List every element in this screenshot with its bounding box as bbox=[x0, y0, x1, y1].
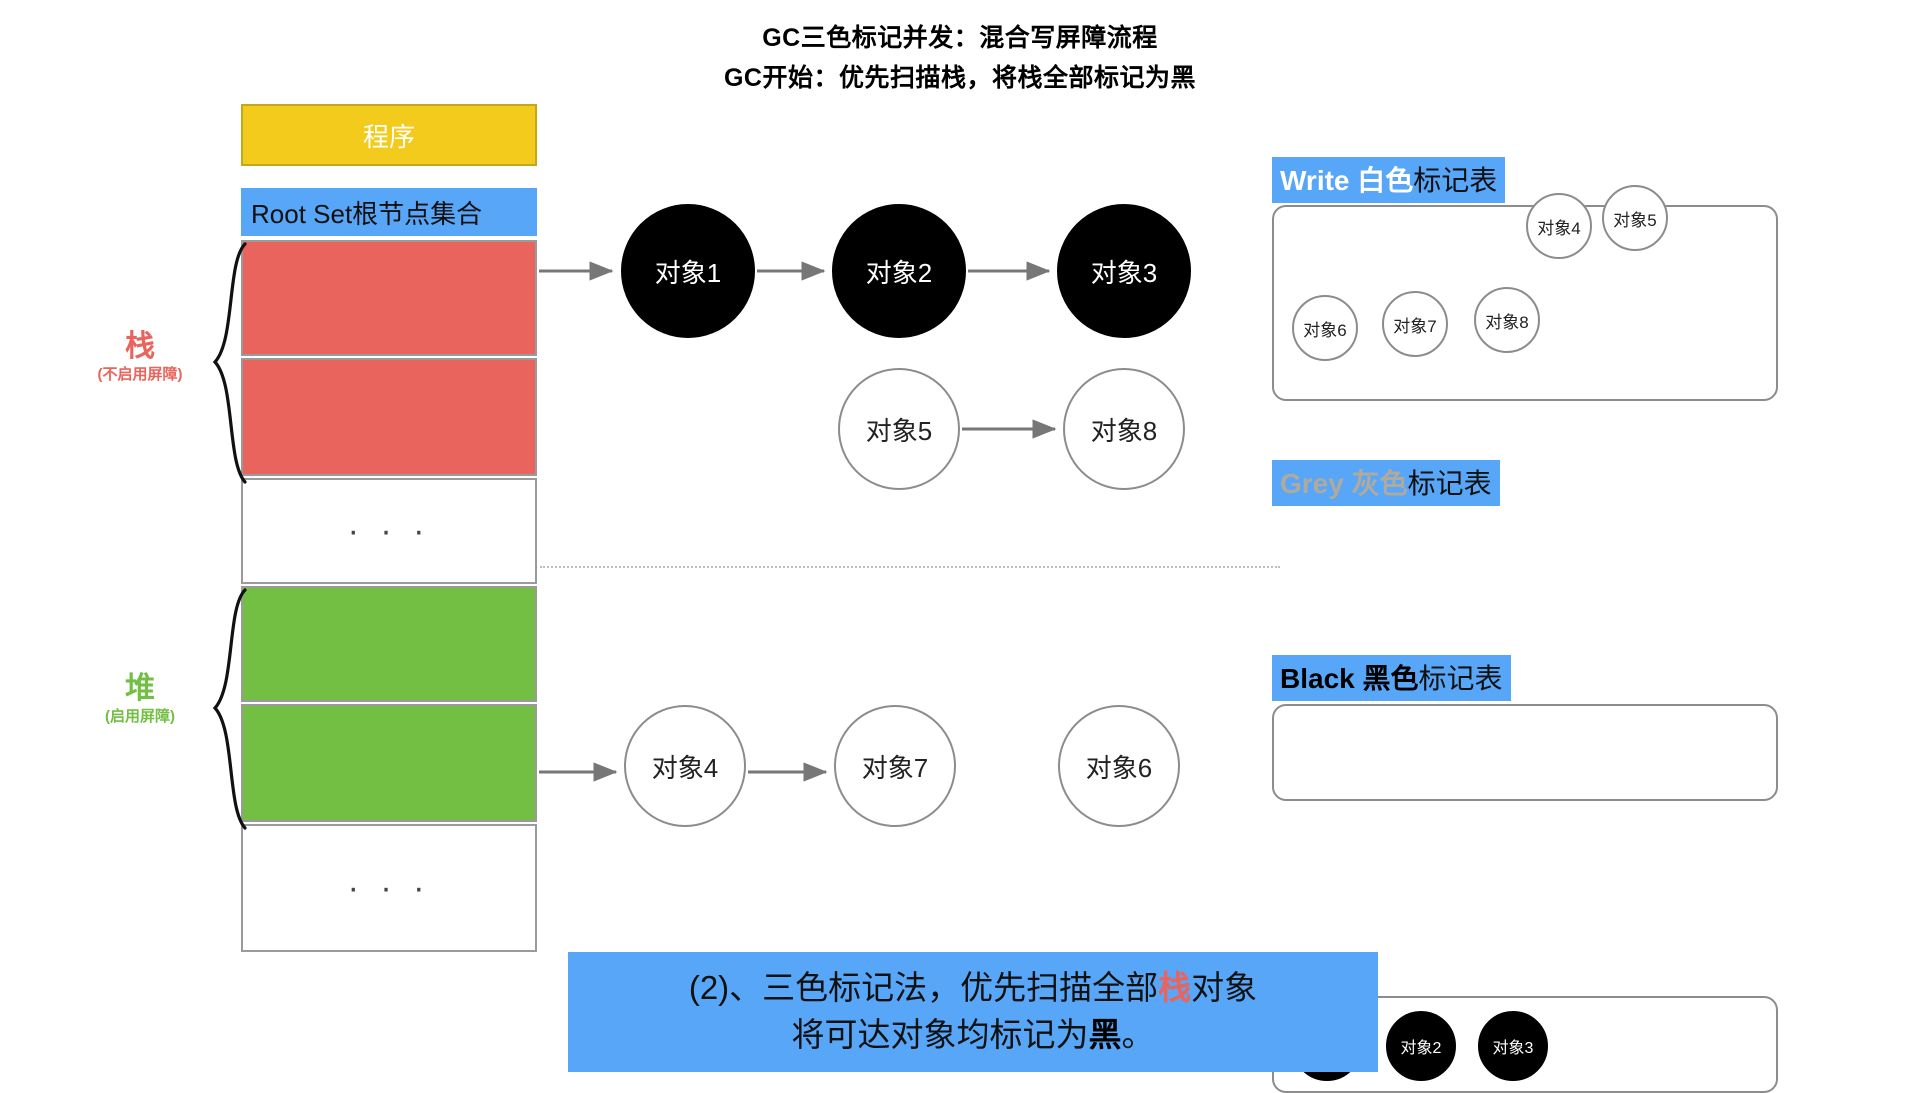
white-item-object5: 对象5 bbox=[1602, 185, 1668, 251]
heap-label-text: 堆 bbox=[60, 672, 220, 706]
white-item-object8: 对象8 bbox=[1474, 287, 1540, 353]
heap-label: 堆 (启用屏障) bbox=[60, 672, 220, 728]
black-item-object3: 对象3 bbox=[1478, 1011, 1548, 1081]
program-block: 程序 bbox=[241, 104, 537, 166]
graph-node-object8: 对象8 bbox=[1063, 368, 1185, 490]
caption-line2-prefix: 将可达对象均标记为 bbox=[792, 1016, 1089, 1053]
black-table-header-bold: Black 黑色 bbox=[1280, 663, 1419, 694]
white-table-header: Write 白色标记表 bbox=[1272, 157, 1505, 203]
grey-table-box bbox=[1272, 704, 1778, 801]
grey-table-header-tail: 标记表 bbox=[1408, 468, 1492, 499]
stack-slot-2 bbox=[241, 358, 537, 476]
white-table-box: 对象4 对象5 对象6 对象7 对象8 bbox=[1272, 205, 1778, 401]
white-item-object7: 对象7 bbox=[1382, 291, 1448, 357]
graph-node-object3: 对象3 bbox=[1057, 204, 1191, 338]
heap-ellipsis: · · · bbox=[241, 824, 537, 952]
heap-label-note: (启用屏障) bbox=[60, 706, 220, 728]
white-table-header-bold: Write 白色 bbox=[1280, 165, 1413, 196]
grey-table-header: Grey 灰色标记表 bbox=[1272, 460, 1500, 506]
heap-slot-1 bbox=[241, 586, 537, 702]
title-line-2: GC开始：优先扫描栈，将栈全部标记为黑 bbox=[0, 58, 1920, 98]
black-table-header: Black 黑色标记表 bbox=[1272, 655, 1511, 701]
root-set-block: Root Set根节点集合 bbox=[241, 188, 537, 236]
stack-label-note: (不启用屏障) bbox=[60, 364, 220, 386]
graph-node-object5: 对象5 bbox=[838, 368, 960, 490]
graph-node-object1: 对象1 bbox=[621, 204, 755, 338]
stack-heap-divider bbox=[540, 566, 1280, 568]
black-table-header-tail: 标记表 bbox=[1419, 663, 1503, 694]
title-line-1: GC三色标记并发：混合写屏障流程 bbox=[0, 18, 1920, 58]
caption-middle: 对象 bbox=[1191, 969, 1257, 1006]
stack-label-text: 栈 bbox=[60, 330, 220, 364]
graph-node-object2: 对象2 bbox=[832, 204, 966, 338]
caption-line2-suffix: 。 bbox=[1122, 1016, 1155, 1053]
graph-node-object6: 对象6 bbox=[1058, 705, 1180, 827]
caption-highlight: 栈 bbox=[1158, 969, 1191, 1006]
heap-brace-icon bbox=[205, 586, 249, 832]
graph-node-object4: 对象4 bbox=[624, 705, 746, 827]
white-item-object4: 对象4 bbox=[1526, 193, 1592, 259]
stack-brace-icon bbox=[205, 240, 249, 486]
stack-slot-1 bbox=[241, 240, 537, 356]
stack-label: 栈 (不启用屏障) bbox=[60, 330, 220, 386]
graph-node-object7: 对象7 bbox=[834, 705, 956, 827]
heap-slot-2 bbox=[241, 704, 537, 822]
diagram-canvas: GC三色标记并发：混合写屏障流程 GC开始：优先扫描栈，将栈全部标记为黑 程序 … bbox=[0, 0, 1920, 1080]
grey-table-header-bold: Grey 灰色 bbox=[1280, 468, 1408, 499]
caption-prefix: (2)、三色标记法，优先扫描全部 bbox=[689, 969, 1158, 1006]
diagram-title: GC三色标记并发：混合写屏障流程 GC开始：优先扫描栈，将栈全部标记为黑 bbox=[0, 18, 1920, 98]
bottom-caption: (2)、三色标记法，优先扫描全部栈对象 将可达对象均标记为黑。 bbox=[568, 952, 1378, 1072]
stack-ellipsis: · · · bbox=[241, 478, 537, 584]
white-table-header-tail: 标记表 bbox=[1413, 165, 1497, 196]
caption-line2-bold: 黑 bbox=[1089, 1016, 1122, 1053]
white-item-object6: 对象6 bbox=[1292, 295, 1358, 361]
black-item-object2: 对象2 bbox=[1386, 1011, 1456, 1081]
